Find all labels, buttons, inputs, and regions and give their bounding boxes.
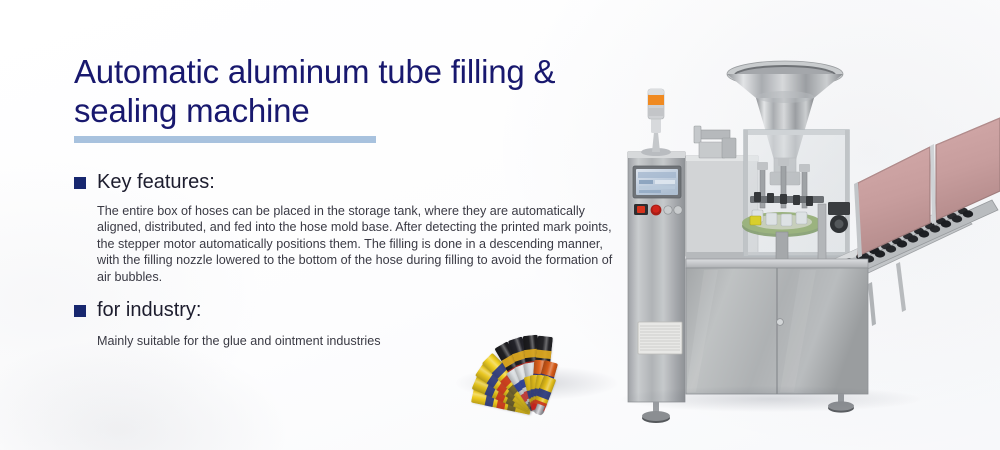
square-bullet-icon [74, 305, 86, 317]
machine-photo [600, 34, 1000, 434]
photo-sensor [750, 216, 761, 225]
tube-label-band [536, 350, 552, 360]
machine-floor-shadow [620, 386, 920, 412]
control-pillar [628, 152, 685, 423]
slide-canvas: Automatic aluminum tube filling & sealin… [0, 0, 1000, 450]
section-key-features: Key features: The entire box of hoses ca… [74, 170, 614, 285]
section-body-text: The entire box of hoses can be placed in… [97, 203, 614, 285]
page-title: Automatic aluminum tube filling & sealin… [74, 52, 604, 130]
title-underline-rule [74, 136, 376, 143]
section-heading-row: Key features: [74, 170, 614, 194]
selector-knob-1 [664, 206, 672, 214]
machine-illustration [600, 34, 1000, 434]
signal-tower-light [641, 89, 671, 156]
tube-label-band [536, 388, 551, 400]
selector-knob-2 [674, 206, 682, 214]
section-heading-label: Key features: [97, 170, 215, 194]
cabinet-lock [777, 319, 784, 326]
tube-feeding-tray [854, 118, 1000, 326]
square-bullet-icon [74, 177, 86, 189]
vent-grille [638, 322, 682, 354]
section-heading-label: for industry: [97, 298, 201, 322]
